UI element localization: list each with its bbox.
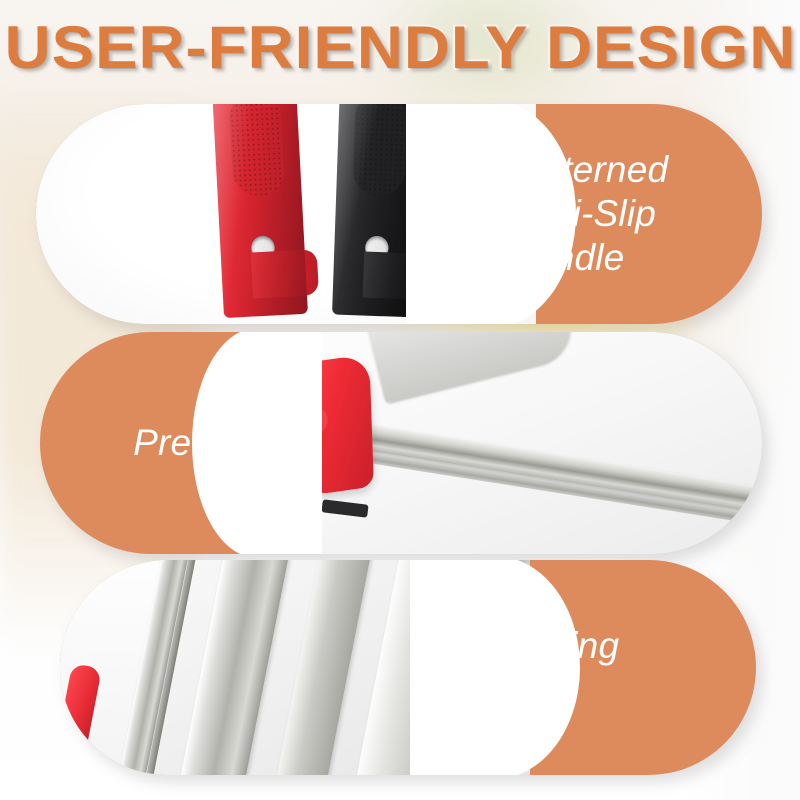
feature-line-1: Hanging	[480, 624, 619, 668]
feature-capsule: Patterned An ti-Slip Handle	[36, 104, 762, 324]
feature-capsule: Cut Prevention Edge	[40, 332, 762, 554]
feature-text-hanging-hole: Hanging Hole	[480, 560, 720, 775]
feature-line-2: Prevention	[133, 421, 312, 465]
handle-shading	[212, 104, 308, 318]
feature-capsule: Hanging Hole	[60, 560, 756, 775]
feature-line-3: Handle	[506, 236, 624, 280]
poster-title-container: USER-FRIENDLY DESIGN	[0, 16, 800, 80]
feature-text-patterned-anti-slip-handle: Patterned An ti-Slip Handle	[506, 104, 736, 324]
feature-line-2: Hole	[480, 668, 557, 712]
feature-row-patterned-anti-slip-handle: Patterned An ti-Slip Handle	[36, 104, 762, 324]
feature-photo-cut-prevention	[282, 332, 762, 554]
feature-row-hanging-hole: Hanging Hole	[60, 560, 756, 775]
red-handle-image	[212, 104, 308, 318]
product-feature-poster: USER-FRIENDLY DESIGN	[0, 0, 800, 800]
feature-text-cut-prevention-edge: Cut Prevention Edge	[50, 332, 312, 554]
feature-line-1: Patterned	[506, 148, 668, 192]
poster-title: USER-FRIENDLY DESIGN	[4, 16, 796, 80]
feature-line-1: Cut	[254, 377, 312, 421]
feature-row-cut-prevention-edge: Cut Prevention Edge	[40, 332, 762, 554]
feature-line-2: An ti-Slip	[506, 192, 656, 236]
feature-line-3: Edge	[225, 465, 312, 509]
